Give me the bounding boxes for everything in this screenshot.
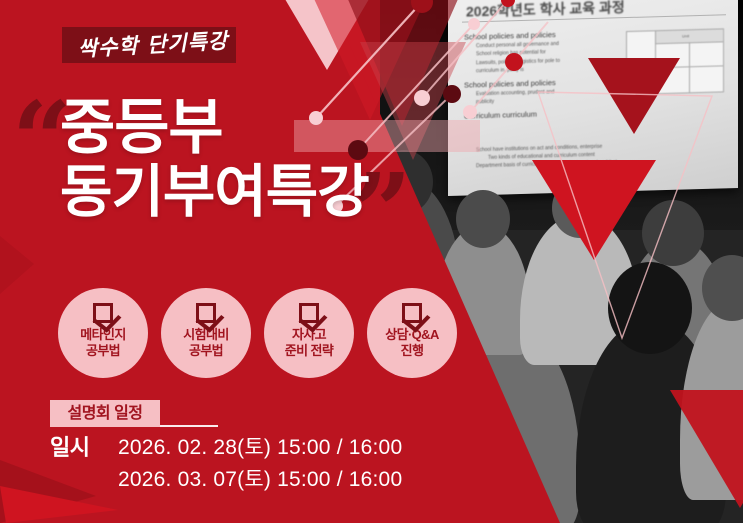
feature-badge[interactable]: 시험대비 공부법 xyxy=(161,288,251,378)
schedule-rule xyxy=(160,425,218,427)
checkbox-check-icon xyxy=(196,303,216,323)
checkbox-check-icon xyxy=(93,303,113,323)
schedule-label-text: 설명회 일정 xyxy=(50,400,160,427)
headline: 중등부 동기부여특강 xyxy=(60,96,390,224)
badge-label-line2: 진행 xyxy=(367,343,457,359)
decor-triangle-down xyxy=(670,390,743,508)
decor-edge-triangle xyxy=(0,236,40,296)
feature-badges: 메타인지 공부법 시험대비 공부법 자사고 준비 전략 상담·Q&A 진행 xyxy=(58,288,458,388)
feature-badge[interactable]: 상담·Q&A 진행 xyxy=(367,288,457,378)
badge-label-line2: 공부법 xyxy=(161,343,251,359)
badge-label-line2: 준비 전략 xyxy=(264,343,354,359)
headline-line-1: 중등부 xyxy=(60,96,390,160)
schedule-body: 일시 2026. 02. 28(토) 15:00 / 16:00 2026. 0… xyxy=(50,432,450,496)
promotional-poster: 2026학년도 학사 교육 과정 School policies and pol… xyxy=(0,0,743,523)
decor-dot-lines-right xyxy=(410,0,560,140)
feature-badge[interactable]: 자사고 준비 전략 xyxy=(264,288,354,378)
schedule-date: 2026. 03. 07(토) 15:00 / 16:00 xyxy=(118,464,402,496)
slide-table-cell: Unit xyxy=(682,33,689,38)
schedule-row: 일시 2026. 02. 28(토) 15:00 / 16:00 2026. 0… xyxy=(50,432,450,496)
schedule-values: 2026. 02. 28(토) 15:00 / 16:00 2026. 03. … xyxy=(118,432,402,496)
schedule-label-box: 설명회 일정 xyxy=(50,400,160,427)
badge-label-line2: 공부법 xyxy=(58,343,148,359)
checkbox-check-icon xyxy=(402,303,422,323)
checkbox-check-icon xyxy=(299,303,319,323)
feature-badge[interactable]: 메타인지 공부법 xyxy=(58,288,148,378)
schedule-date: 2026. 02. 28(토) 15:00 / 16:00 xyxy=(118,432,402,464)
schedule-key: 일시 xyxy=(50,432,118,464)
headline-line-2: 동기부여특강 xyxy=(60,160,390,224)
